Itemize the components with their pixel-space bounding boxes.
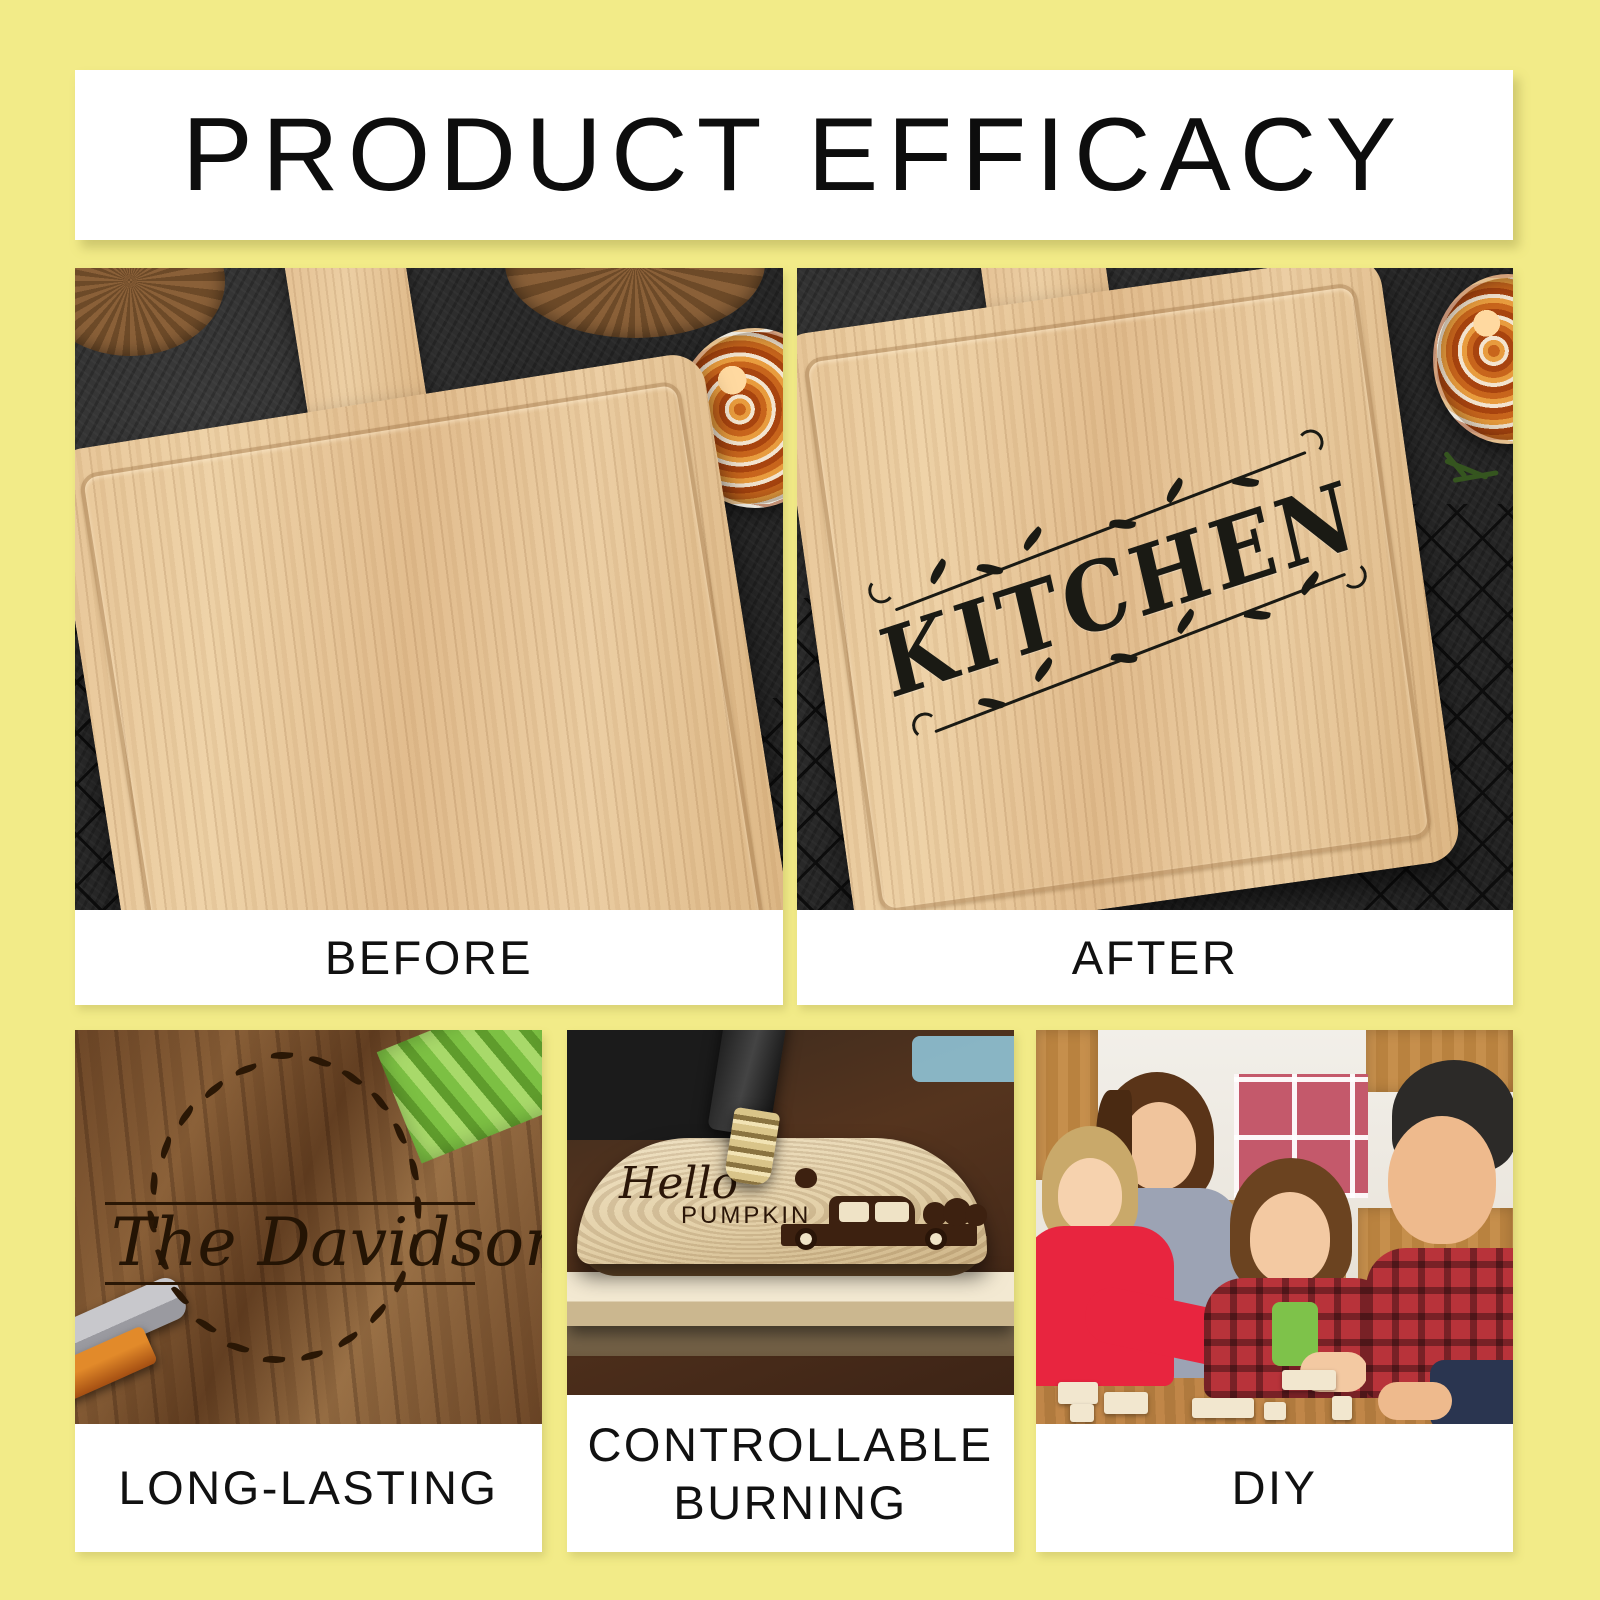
pumpkin-shape [965, 1204, 987, 1226]
before-photo [75, 268, 783, 910]
controllable-burning-caption: CONTROLLABLE BURNING [567, 1395, 1014, 1552]
boy-face [1250, 1192, 1330, 1284]
domino-tile [1192, 1398, 1254, 1418]
long-lasting-panel: The Davidsons LONG-LASTING [75, 1030, 542, 1552]
title-card: PRODUCT EFFICACY [75, 70, 1513, 240]
engraved-design: KITCHEN [857, 436, 1383, 745]
controllable-burning-panel: Hello PUMPKIN CONTROLLABLE BURNING [567, 1030, 1014, 1552]
burning-caption-line2: BURNING [673, 1476, 907, 1529]
burning-caption-line1: CONTROLLABLE [587, 1418, 993, 1471]
domino-tile [1058, 1382, 1098, 1404]
pumpkin-accent [795, 1168, 817, 1188]
controllable-burning-photo: Hello PUMPKIN [567, 1030, 1014, 1395]
before-caption: BEFORE [75, 910, 783, 1005]
wood-plank [567, 1272, 1014, 1326]
long-lasting-caption: LONG-LASTING [75, 1424, 542, 1552]
diy-caption-text: DIY [1232, 1459, 1318, 1516]
father-face [1388, 1116, 1496, 1244]
cutting-board [75, 350, 783, 910]
before-caption-text: BEFORE [325, 929, 533, 986]
page-title: PRODUCT EFFICACY [182, 103, 1405, 207]
domino-tile [1104, 1392, 1148, 1414]
long-lasting-photo: The Davidsons [75, 1030, 542, 1424]
after-panel: KITCHEN AFTER [797, 268, 1513, 1005]
rosemary-sprig [1445, 450, 1513, 510]
after-caption-text: AFTER [1072, 929, 1239, 986]
blue-cloth [912, 1036, 1014, 1082]
cutting-board: KITCHEN [797, 268, 1463, 910]
domino-tile [1264, 1402, 1286, 1420]
after-caption: AFTER [797, 910, 1513, 1005]
diy-photo [1036, 1030, 1513, 1424]
father-hand [1378, 1382, 1452, 1420]
domino-tile [1282, 1370, 1336, 1390]
bottom-rule [105, 1282, 475, 1285]
girl-face [1058, 1158, 1122, 1232]
truck-graphic [773, 1196, 983, 1256]
engraving-name: The Davidsons [111, 1210, 542, 1276]
domino-tile [1070, 1404, 1094, 1422]
before-panel: BEFORE [75, 268, 783, 1005]
diy-caption: DIY [1036, 1424, 1513, 1552]
long-lasting-caption-text: LONG-LASTING [119, 1459, 499, 1516]
diy-panel: DIY [1036, 1030, 1513, 1552]
domino-tile [1332, 1396, 1352, 1420]
after-photo: KITCHEN [797, 268, 1513, 910]
